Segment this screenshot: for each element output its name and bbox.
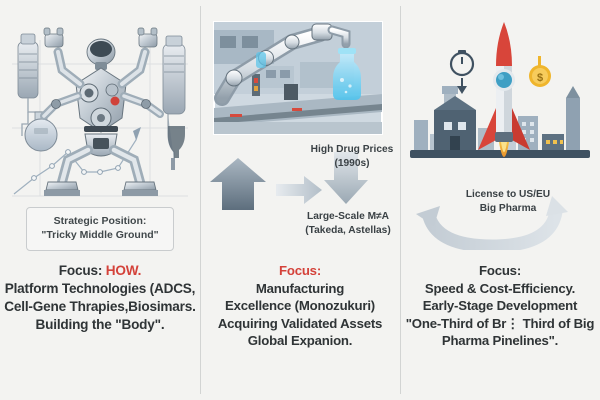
rocket-icon	[478, 22, 530, 157]
caption-left-focus-line: Focus: HOW.	[2, 262, 198, 280]
factory-scene-card	[214, 22, 382, 134]
svg-text:$: $	[537, 72, 543, 84]
infographic-canvas: W	[0, 0, 600, 400]
license-line-1: License to US/EU	[448, 188, 568, 202]
caption-left-line-4: Building the "Body".	[2, 316, 198, 334]
caption-middle: Focus: Manufacturing Excellence (Monozuk…	[202, 262, 398, 350]
focus-label: Focus:	[59, 263, 102, 278]
label-large-scale-ma: Large-Scale M≠A (Takeda, Astellas)	[296, 210, 400, 238]
strategy-line-1: Strategic Position:	[31, 214, 169, 228]
strategy-line-2: "Tricky Middle Ground"	[31, 228, 169, 242]
caption-left-line-3: Cell-Gene Thrapies,Biosimars.	[2, 298, 198, 316]
ma-line-1: Large-Scale M≠A	[296, 210, 400, 224]
high-price-line-2: (1990s)	[304, 157, 400, 171]
caption-right-line-2: Speed & Cost-Efficiency.	[402, 280, 598, 298]
caption-right-line-5: Pharma Pinelines".	[402, 332, 598, 350]
panel-left: W	[0, 0, 200, 400]
caption-right-line-4: "One-Third of Br⋮ Third of Big	[402, 315, 598, 333]
panel-right: $ License to US/EU Big Pharma Focus: Spe…	[400, 0, 600, 400]
panel-middle: High Drug Prices (1990s) Large-Scale M≠A…	[200, 0, 400, 400]
right-arrow-icon	[276, 176, 322, 204]
caption-middle-line-4: Acquiring Validated Assets	[202, 315, 398, 333]
caption-middle-line-5: Global Expanion.	[202, 332, 398, 350]
up-arrow-icon	[210, 158, 266, 210]
label-license-big-pharma: License to US/EU Big Pharma	[448, 188, 568, 216]
focus-accent: HOW.	[106, 263, 141, 278]
dollar-coin-icon: $	[529, 56, 551, 87]
caption-middle-line-3: Excellence (Monozukuri)	[202, 297, 398, 315]
label-high-drug-prices: High Drug Prices (1990s)	[304, 143, 400, 171]
caption-left-line-2: Platform Technologies (ADCS,	[2, 280, 198, 298]
license-line-2: Big Pharma	[448, 202, 568, 216]
caption-middle-focus-line: Focus:	[202, 262, 398, 280]
caption-right: Focus: Speed & Cost-Efficiency. Early-St…	[402, 262, 598, 350]
caption-left: Focus: HOW. Platform Technologies (ADCS,…	[2, 262, 198, 334]
caption-right-focus-line: Focus:	[402, 262, 598, 280]
lab-apparatus-right	[163, 36, 185, 170]
caption-right-line-3: Early-Stage Development	[402, 297, 598, 315]
caption-middle-line-2: Manufacturing	[202, 280, 398, 298]
high-price-line-1: High Drug Prices	[304, 143, 400, 157]
ma-line-2: (Takeda, Astellas)	[296, 224, 400, 238]
strategic-position-callout: Strategic Position: "Tricky Middle Groun…	[26, 207, 174, 251]
lab-apparatus-left	[18, 34, 57, 152]
